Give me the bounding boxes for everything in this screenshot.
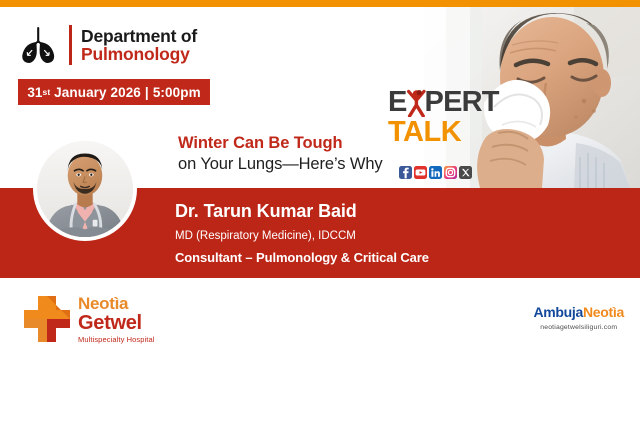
social-links[interactable]: [399, 166, 472, 179]
hospital-name-bottom: Getwel: [78, 313, 155, 333]
speaker-details: Dr. Tarun Kumar Baid MD (Respiratory Med…: [175, 200, 429, 266]
department-lockup: Department of Pulmonology: [18, 25, 197, 65]
event-time: 5:00pm: [153, 85, 201, 100]
event-datetime-badge: 31st January 2026|5:00pm: [18, 79, 210, 105]
speaker-name: Dr. Tarun Kumar Baid: [175, 200, 429, 223]
lungs-icon: [18, 25, 60, 65]
event-date-suffix: st: [43, 87, 51, 97]
event-date-rest: January 2026: [54, 85, 141, 100]
hospital-tagline: Multispecialty Hospital: [78, 336, 155, 344]
expert-talk-poster: Department of Pulmonology 31st January 2…: [0, 0, 640, 427]
x-twitter-icon[interactable]: [459, 166, 472, 179]
group-brand-neotia: Neotìa: [583, 304, 624, 320]
expert-letter-e: E: [388, 88, 407, 117]
event-datetime-separator: |: [141, 85, 153, 100]
group-brand: AmbujaNeotìa neotiagetwelsiliguri.com: [533, 305, 624, 331]
group-brand-name: AmbujaNeotìa: [533, 305, 624, 319]
headline-line2: on Your Lungs—Here’s Why: [178, 154, 383, 175]
expert-talk-logo: E PERT TALK: [388, 88, 500, 148]
expert-wordmark: E PERT: [388, 88, 500, 117]
speaker-role: Consultant – Pulmonology & Critical Care: [175, 250, 429, 266]
department-label-line2: Pulmonology: [81, 45, 197, 63]
group-brand-ambuja: Ambuja: [533, 304, 583, 320]
speaker-avatar: [33, 137, 137, 241]
expert-letters-pert: PERT: [425, 88, 499, 117]
hospital-name-top: Neotìa: [78, 295, 155, 312]
department-label-line1: Department of: [81, 27, 197, 45]
avatar: [37, 141, 133, 237]
facebook-icon[interactable]: [399, 166, 412, 179]
hospital-logo: Neotìa Getwel Multispecialty Hospital: [20, 292, 155, 346]
youtube-icon[interactable]: [414, 166, 427, 179]
top-accent-bar: [0, 0, 640, 7]
expert-speaker-figure-icon: [406, 88, 426, 117]
department-divider: [69, 25, 72, 65]
headline-line1: Winter Can Be Tough: [178, 133, 383, 154]
instagram-icon[interactable]: [444, 166, 457, 179]
website-url: neotiagetwelsiliguri.com: [533, 324, 624, 331]
medical-cross-icon: [20, 292, 74, 346]
speaker-qualification: MD (Respiratory Medicine), IDCCM: [175, 229, 429, 243]
linkedin-icon[interactable]: [429, 166, 442, 179]
talk-wordmark: TALK: [388, 118, 500, 148]
event-date-day: 31: [27, 85, 42, 100]
page-title: Winter Can Be Tough on Your Lungs—Here’s…: [178, 133, 383, 176]
